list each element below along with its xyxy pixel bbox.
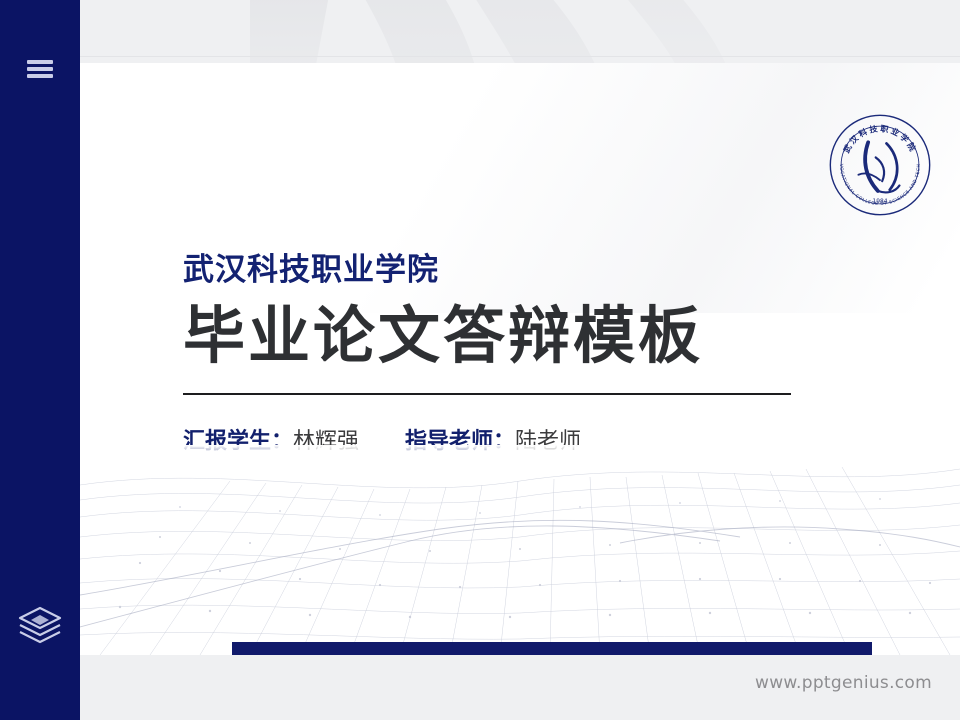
hamburger-menu-icon [27,57,53,81]
title-divider-rule [183,393,791,395]
site-url-watermark: www.pptgenius.com [755,673,932,693]
layers-stack-icon [17,604,63,644]
accent-bar [232,642,872,655]
school-name: 武汉科技职业学院 [183,253,883,287]
menu-button[interactable] [0,52,80,86]
layers-button[interactable] [0,600,80,648]
title-text-block: 武汉科技职业学院 毕业论文答辩模板 汇报学生： 林辉强 指导老师： 陆老师 [183,253,883,455]
slide-card: 武汉科技职业学院 WUHAN VOCATIONAL COLLEGE OF SCI… [80,63,960,655]
slide-page: 武汉科技职业学院 WUHAN VOCATIONAL COLLEGE OF SCI… [0,0,960,720]
svg-text:武汉科技职业学院: 武汉科技职业学院 [841,123,919,154]
footer: www.pptgenius.com [80,655,960,720]
svg-text:1984: 1984 [872,198,887,205]
university-seal-logo: 武汉科技职业学院 WUHAN VOCATIONAL COLLEGE OF SCI… [826,111,934,219]
page-title: 毕业论文答辩模板 [183,301,883,370]
left-navy-rail [0,0,80,720]
wireframe-mesh-decoration [80,445,960,655]
